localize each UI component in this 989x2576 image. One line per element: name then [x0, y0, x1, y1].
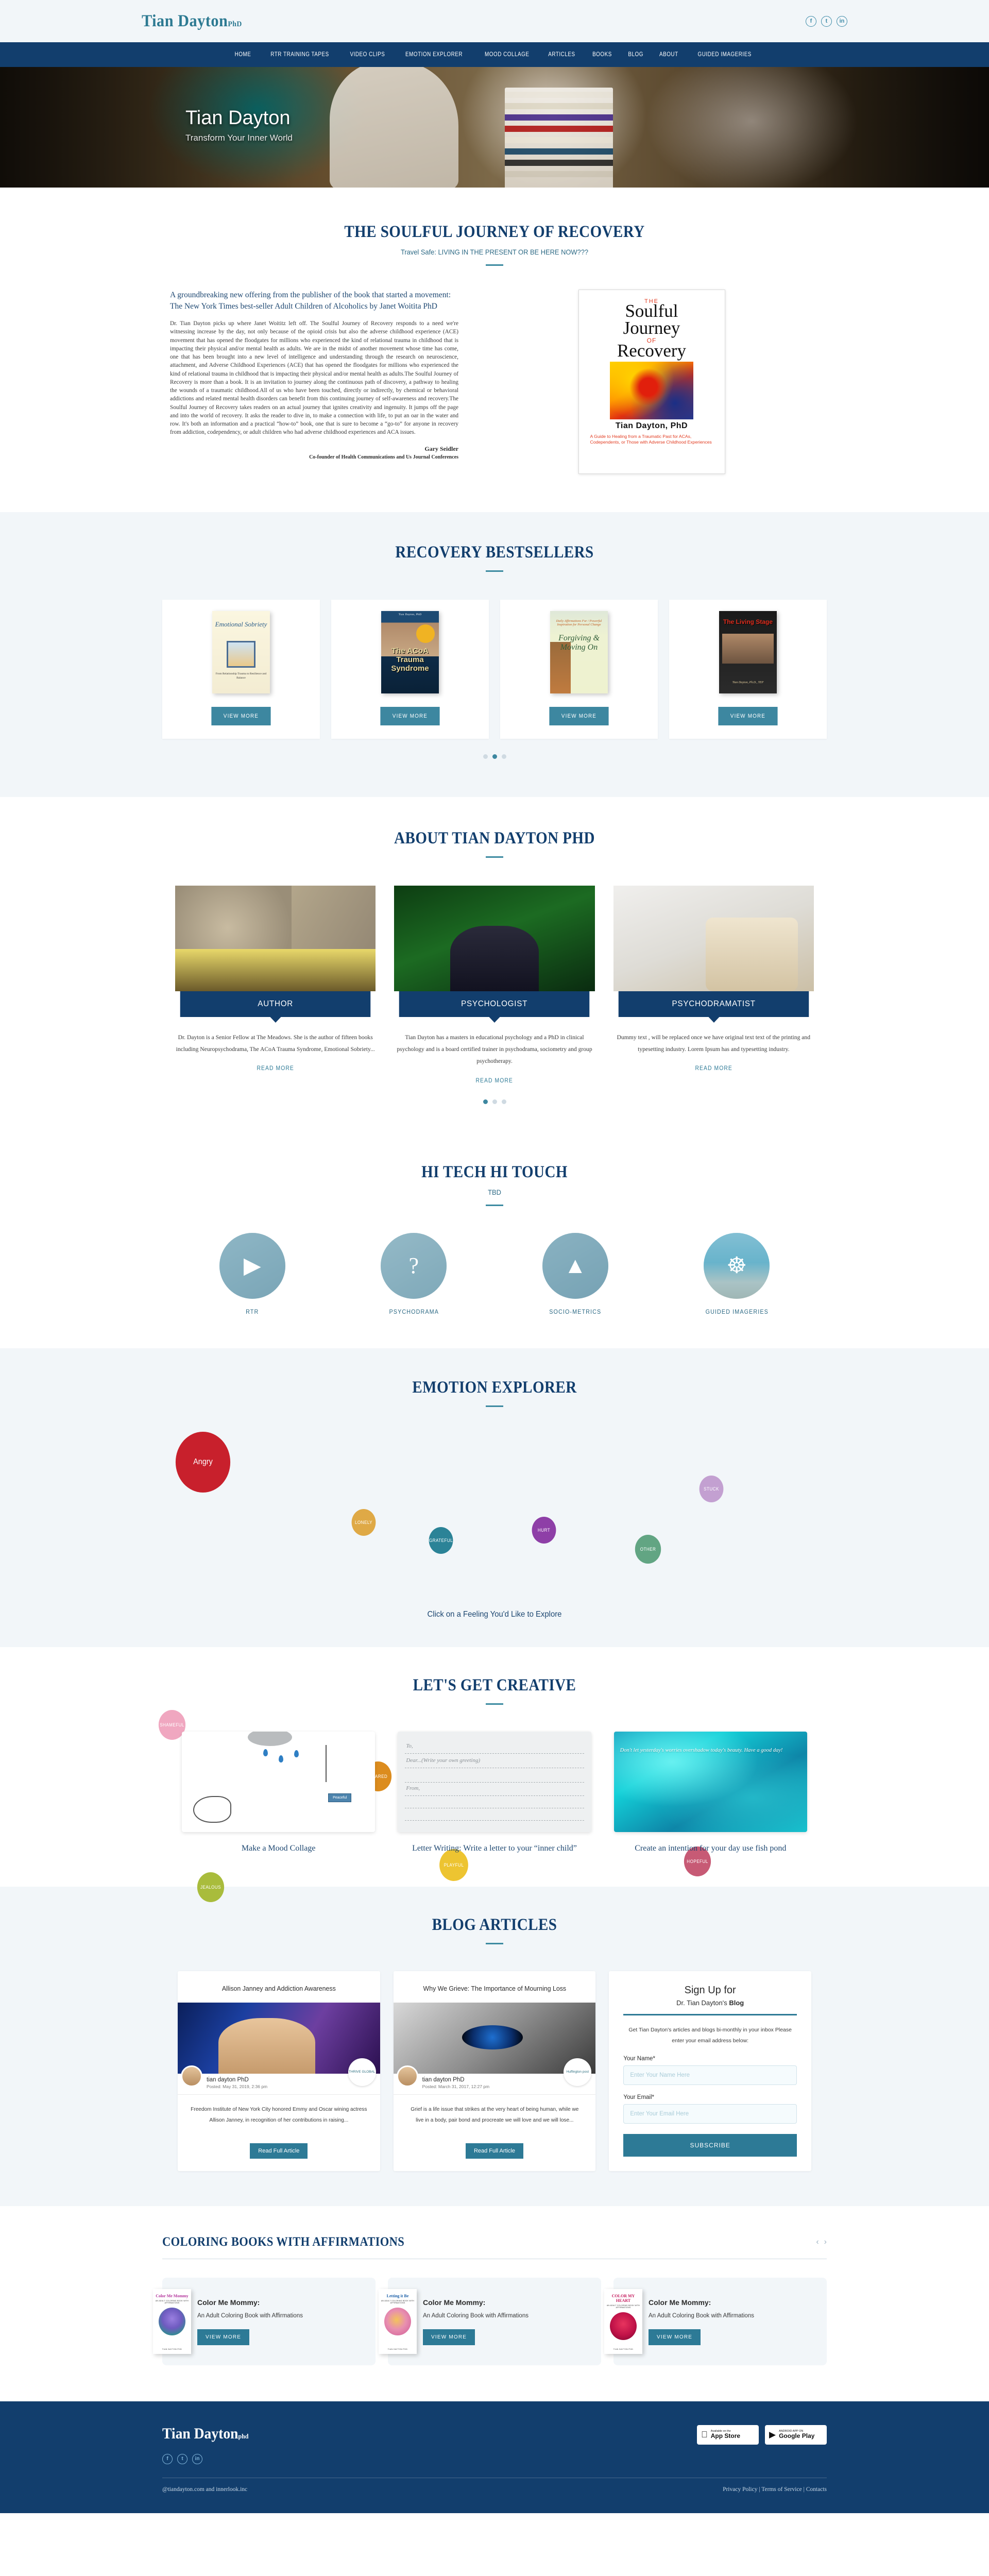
cover-author: Tian Dayton, PhD — [586, 421, 718, 431]
app-store-badges:  Available on the App Store ▶ ANDROID A… — [697, 2425, 827, 2445]
cover-title: Emotional Sobriety — [212, 620, 270, 629]
carousel-dot[interactable] — [502, 1099, 506, 1104]
carousel-dot-active[interactable] — [492, 754, 497, 759]
section-rule — [486, 856, 503, 858]
hitech-subtitle: TBD — [170, 1188, 819, 1196]
emotion-bubble-field: AngryLONELYGRATEFULHURTOTHERSTUCKSHAMEFU… — [142, 1432, 847, 1602]
recovery-bestsellers-section: RECOVERY BESTSELLERS Emotional Sobriety … — [0, 512, 989, 797]
twitter-icon[interactable]: t — [177, 2454, 187, 2464]
soulful-body: Dr. Tian Dayton picks up where Janet Woi… — [170, 319, 458, 437]
creative-caption-letter-writing: Letter Writing: Write a letter to your “… — [398, 1842, 591, 1855]
bestsellers-carousel-dots — [142, 754, 847, 759]
cover-author: Tian Dayton, Ph.D., TEP — [719, 681, 777, 684]
blog-headline: Why We Grieve: The Importance of Mournin… — [398, 1971, 590, 2003]
main-navigation: HOME RTR TRAINING TAPES VIDEO CLIPS EMOT… — [0, 42, 989, 67]
logo-text: Tian Dayton — [142, 12, 228, 30]
coloring-book-card[interactable]: Letting it Be AN ADULT COLORING BOOK WIT… — [388, 2278, 601, 2365]
coloring-books-section: COLORING BOOKS WITH AFFIRMATIONS ‹ › Col… — [0, 2206, 989, 2401]
linkedin-icon[interactable]: in — [192, 2454, 202, 2464]
book-cover-letting-it-be: Letting it Be AN ADULT COLORING BOOK WIT… — [379, 2289, 417, 2354]
read-full-article-button[interactable]: Read Full Article — [466, 2143, 523, 2159]
coloring-book-card[interactable]: COLOR MY HEART AN ADULT COLORING BOOK WI… — [613, 2278, 827, 2365]
hi-tech-hi-touch-section: HI TECH HI TOUCH TBD ▶ RTR ? PSYCHODRAMA — [0, 1134, 989, 1348]
about-image-psychologist — [394, 886, 594, 991]
about-image-author — [175, 886, 376, 991]
cover-subtitle: AN ADULT COLORING BOOK WITH AFFIRMATIONS — [379, 2300, 417, 2304]
blog-card[interactable]: Why We Grieve: The Importance of Mournin… — [394, 1971, 596, 2171]
cover-title: The Living Stage — [719, 618, 777, 625]
view-more-button[interactable]: VIEW MORE — [718, 707, 777, 725]
credit-role: Co-founder of Health Communications and … — [170, 454, 458, 460]
about-label-psychodramatist: PSYCHODRAMATIST — [618, 991, 809, 1017]
blog-author: tian dayton PhD — [207, 2077, 373, 2083]
subscribe-button[interactable]: SUBSCRIBE — [623, 2134, 797, 2157]
nav-item-home[interactable]: HOME — [229, 52, 257, 58]
hitech-item-guided-imageries[interactable]: ☸ GUIDED IMAGERIES — [665, 1233, 809, 1315]
hitech-label-psychodrama: PSYCHODRAMA — [349, 1308, 479, 1315]
hitech-item-socio-metrics[interactable]: ▲ SOCIO-METRICS — [503, 1233, 647, 1315]
view-more-button[interactable]: VIEW MORE — [211, 707, 270, 725]
emotion-bubble-angry[interactable]: Angry — [176, 1432, 230, 1493]
book-cover-soulful-journey[interactable]: THE Soulful Journey OF Recovery Tian Day… — [578, 290, 725, 474]
avatar — [397, 2065, 418, 2087]
coloring-book-desc: An Adult Coloring Book with Affirmations — [423, 2311, 590, 2322]
site-logo[interactable]: Tian DaytonPhD — [142, 12, 242, 31]
blog-date: Posted: March 31, 2017, 12:27 pm — [422, 2084, 589, 2089]
coloring-book-name: Color Me Mommy: — [197, 2297, 364, 2308]
blog-meta: Huffington post tian dayton PhD Posted: … — [394, 2074, 596, 2095]
signup-subtitle-bold: Blog — [729, 1999, 744, 2007]
cover-window-art — [227, 641, 255, 668]
carousel-dot[interactable] — [483, 754, 488, 759]
app-store-badge[interactable]:  Available on the App Store — [697, 2425, 759, 2445]
signup-copy: Get Tian Dayton's articles and blogs bi-… — [623, 2025, 797, 2046]
footer-copyright: @tiandayton.com and innerlook.inc — [162, 2486, 247, 2493]
emotion-hint: Click on a Feeling You'd Like to Explore — [166, 1610, 823, 1619]
footer-logo-suffix: phd — [238, 2432, 249, 2440]
creative-caption-intention: Create an intention for your day use fis… — [614, 1842, 807, 1855]
nav-item-mood-collage[interactable]: MOOD COLLAGE — [479, 52, 535, 58]
coloring-book-desc: An Adult Coloring Book with Affirmations — [197, 2311, 364, 2322]
bestseller-card[interactable]: Tian Dayton, PhD The ACoA Trauma Syndrom… — [331, 600, 489, 739]
cover-line-2: Journey — [586, 319, 718, 336]
cover-author: TIAN DAYTON PHD — [153, 2348, 191, 2350]
about-image-psychodramatist — [613, 886, 814, 991]
soulful-title: THE SOULFUL JOURNEY OF RECOVERY — [184, 223, 805, 242]
hero-text-block: Tian Dayton Transform Your Inner World — [185, 107, 293, 143]
hero-subtitle: Transform Your Inner World — [185, 133, 293, 143]
intention-water-card: Don't let yesterday's worries overshadow… — [614, 1732, 807, 1832]
raindrop-icon — [279, 1755, 283, 1762]
chevron-right-icon[interactable]: › — [824, 2238, 827, 2247]
cover-artwork — [610, 362, 693, 419]
linkedin-icon[interactable]: in — [837, 16, 847, 27]
cover-author: TIAN DAYTON PHD — [379, 2348, 417, 2350]
read-full-article-button[interactable]: Read Full Article — [250, 2143, 308, 2159]
blog-meta: THRIVE GLOBAL tian dayton PhD Posted: Ma… — [178, 2074, 380, 2095]
soulful-credit: Gary Seidler Co-founder of Health Commun… — [170, 445, 458, 460]
blog-thumbnail — [394, 2003, 596, 2074]
letter-to-label: To, — [406, 1743, 413, 1749]
nav-item-about[interactable]: ABOUT — [654, 52, 684, 58]
cover-title: COLOR MY HEART — [604, 2294, 642, 2303]
hitech-circle: ? — [381, 1233, 447, 1299]
cover-badge — [416, 624, 435, 643]
nav-item-rtr-training-tapes[interactable]: RTR TRAINING TAPES — [265, 52, 335, 58]
blog-excerpt: Freedom Institute of New York City honor… — [182, 2095, 376, 2136]
book-cover-acoa-trauma-syndrome: Tian Dayton, PhD The ACoA Trauma Syndrom… — [381, 611, 439, 693]
view-more-button[interactable]: VIEW MORE — [549, 707, 608, 725]
bestseller-card[interactable]: Daily Affirmations For / Powerful Inspir… — [500, 600, 658, 739]
letter-greeting-label: Dear...(Write your own greeting) — [406, 1757, 480, 1764]
nav-item-video-clips[interactable]: VIDEO CLIPS — [344, 52, 390, 58]
lets-get-creative-section: LET'S GET CREATIVE Peaceful Make a Mood … — [0, 1647, 989, 1887]
hero-book-stack — [505, 88, 613, 188]
credit-name: Gary Seidler — [170, 445, 458, 453]
hitech-circle: ▲ — [542, 1233, 608, 1299]
blog-headline: Allison Janney and Addiction Awareness — [183, 1971, 375, 2003]
hero-banner: Tian Dayton Transform Your Inner World — [0, 67, 989, 188]
cover-line-1: Soulful — [586, 302, 718, 319]
hero-portrait-figure — [330, 67, 458, 188]
emotion-bubble-stuck[interactable]: STUCK — [700, 1476, 724, 1502]
section-rule — [486, 1703, 503, 1705]
signup-subtitle: Dr. Tian Dayton's Blog — [623, 1999, 797, 2007]
view-more-button[interactable]: VIEW MORE — [423, 2329, 475, 2345]
meditation-icon: ☸ — [727, 1255, 747, 1277]
footer-logo[interactable]: Tian Daytonphd — [162, 2425, 248, 2443]
rain-cloud-icon — [248, 1732, 292, 1746]
cover-line-3: Recovery — [586, 342, 718, 359]
facebook-icon[interactable]: f — [162, 2454, 173, 2464]
coloring-rule — [162, 2259, 827, 2259]
footer-social-links: f t in — [162, 2454, 256, 2464]
coloring-book-desc: An Adult Coloring Book with Affirmations — [649, 2311, 815, 2322]
cover-subtitle: From Relationship Trauma to Resilience a… — [212, 672, 270, 681]
emotion-bubble-jealous[interactable]: JEALOUS — [197, 1872, 224, 1902]
book-cover-emotional-sobriety: Emotional Sobriety From Relationship Tra… — [212, 611, 270, 693]
chevron-left-icon[interactable]: ‹ — [816, 2238, 819, 2247]
bestsellers-title: RECOVERY BESTSELLERS — [184, 543, 805, 562]
coloring-book-name: Color Me Mommy: — [649, 2297, 815, 2308]
play-video-icon: ▶ — [244, 1255, 261, 1277]
cover-subtitle: AN ADULT COLORING BOOK WITH AFFIRMATIONS — [604, 2304, 642, 2309]
hitech-label-socio-metrics: SOCIO-METRICS — [510, 1308, 640, 1315]
emotion-bubble-hurt[interactable]: HURT — [532, 1517, 556, 1544]
coloring-title: COLORING BOOKS WITH AFFIRMATIONS — [162, 2235, 404, 2249]
creative-item-letter-writing[interactable]: To, Dear...(Write your own greeting) Fro… — [398, 1732, 591, 1855]
app-store-big-text: App Store — [711, 2433, 740, 2439]
creative-caption-mood-collage: Make a Mood Collage — [182, 1842, 375, 1855]
hitech-item-psychodrama[interactable]: ? PSYCHODRAMA — [342, 1233, 486, 1315]
soulful-journey-section: THE SOULFUL JOURNEY OF RECOVERY Travel S… — [0, 188, 989, 512]
coloring-book-card[interactable]: Color Me Mommy AN ADULT COLORING BOOK WI… — [162, 2278, 376, 2365]
source-logo-thrive-global: THRIVE GLOBAL — [348, 2058, 376, 2086]
section-rule — [486, 264, 503, 266]
mood-collage-canvas: Peaceful — [182, 1732, 375, 1832]
cover-author: Tian Dayton, PhD — [381, 613, 439, 616]
footer-logo-text: Tian Dayton — [162, 2425, 238, 2442]
emotion-explorer-section: EMOTION EXPLORER AngryLONELYGRATEFULHURT… — [0, 1348, 989, 1647]
hitech-circle: ☸ — [704, 1233, 770, 1299]
newsletter-signup-card: Sign Up for Dr. Tian Dayton's Blog Get T… — [609, 1971, 811, 2171]
carousel-dot-active[interactable] — [483, 1099, 488, 1104]
read-more-link-psychologist[interactable]: READ MORE — [404, 1078, 585, 1084]
about-card-author: AUTHOR Dr. Dayton is a Senior Fellow at … — [175, 886, 376, 1084]
raindrop-icon — [294, 1750, 299, 1757]
about-desc-psychologist: Tian Dayton has a masters in educational… — [394, 1031, 594, 1067]
nav-item-emotion-explorer[interactable]: EMOTION EXPLORER — [400, 52, 468, 58]
cover-subtitle: AN ADULT COLORING BOOK WITH AFFIRMATIONS — [153, 2300, 191, 2304]
about-carousel-dots — [142, 1099, 847, 1104]
read-more-link-psychodramatist[interactable]: READ MORE — [623, 1065, 804, 1072]
emotion-title: EMOTION EXPLORER — [184, 1378, 805, 1397]
hitech-title: HI TECH HI TOUCH — [184, 1163, 805, 1182]
view-more-button[interactable]: VIEW MORE — [649, 2329, 701, 2345]
section-rule — [486, 1943, 503, 1944]
coloring-book-name: Color Me Mommy: — [423, 2297, 590, 2308]
blog-date: Posted: May 31, 2019, 2:36 pm — [207, 2084, 373, 2089]
cover-photo-art — [722, 634, 774, 664]
nav-item-blog[interactable]: BLOG — [622, 52, 649, 58]
hitech-item-rtr[interactable]: ▶ RTR — [180, 1233, 325, 1315]
soulful-cover-column: THE Soulful Journey OF Recovery Tian Day… — [484, 290, 819, 474]
read-more-link-author[interactable]: READ MORE — [185, 1065, 365, 1072]
cover-title: Color Me Mommy — [153, 2294, 191, 2298]
hitech-label-guided-imageries: GUIDED IMAGERIES — [672, 1308, 802, 1315]
mountain-chart-icon: ▲ — [564, 1255, 587, 1277]
nav-item-books[interactable]: BOOKS — [587, 52, 618, 58]
google-play-big-text: Google Play — [779, 2433, 814, 2439]
creative-title: LET'S GET CREATIVE — [184, 1676, 805, 1695]
book-cover-color-me-mommy: Color Me Mommy AN ADULT COLORING BOOK WI… — [153, 2289, 191, 2354]
soulful-subtitle: Travel Safe: LIVING IN THE PRESENT OR BE… — [170, 248, 819, 256]
creative-item-mood-collage[interactable]: Peaceful Make a Mood Collage — [182, 1732, 375, 1855]
about-label-author: AUTHOR — [180, 991, 371, 1017]
letter-writing-sheet: To, Dear...(Write your own greeting) Fro… — [398, 1732, 591, 1832]
blog-card[interactable]: Allison Janney and Addiction Awareness T… — [178, 1971, 380, 2171]
emotion-bubble-other[interactable]: OTHER — [635, 1535, 661, 1564]
email-field-label: Your Email* — [623, 2094, 797, 2100]
question-head-icon: ? — [408, 1255, 419, 1277]
cover-artwork — [384, 2308, 411, 2335]
book-cover-forgiving-and-moving-on: Daily Affirmations For / Powerful Inspir… — [550, 611, 608, 693]
about-card-psychodramatist: PSYCHODRAMATIST Dummy text , will be rep… — [613, 886, 814, 1084]
cover-tagline: A Guide to Healing from a Traumatic Past… — [586, 434, 718, 446]
section-rule — [486, 1405, 503, 1407]
carousel-dot[interactable] — [492, 1099, 497, 1104]
nav-item-guided-imageries[interactable]: GUIDED IMAGERIES — [692, 52, 757, 58]
book-cover-color-my-heart: COLOR MY HEART AN ADULT COLORING BOOK WI… — [604, 2289, 642, 2354]
avatar — [181, 2065, 202, 2087]
play-triangle-icon: ▶ — [769, 2430, 776, 2440]
blog-articles-section: BLOG ARTICLES Allison Janney and Addicti… — [0, 1887, 989, 2206]
signup-subtitle-pre: Dr. Tian Dayton's — [676, 1999, 729, 2007]
letter-from-label: From, — [406, 1785, 420, 1791]
bird-drawing-icon — [193, 1796, 231, 1823]
section-rule — [486, 570, 503, 572]
name-input[interactable] — [623, 2065, 797, 2085]
about-title: ABOUT TIAN DAYTON PHD — [184, 829, 805, 848]
palm-tree-icon — [326, 1745, 357, 1782]
nav-item-articles[interactable]: ARTICLES — [542, 52, 581, 58]
email-input[interactable] — [623, 2104, 797, 2124]
hero-title: Tian Dayton — [185, 107, 293, 129]
raindrop-icon — [263, 1749, 268, 1756]
soulful-text-column: A groundbreaking new offering from the p… — [170, 290, 458, 474]
view-more-button[interactable]: VIEW MORE — [197, 2329, 249, 2345]
cover-title: The ACoA Trauma Syndrome — [381, 647, 439, 673]
blog-author: tian dayton PhD — [422, 2077, 589, 2083]
emotion-bubble-grateful[interactable]: GRATEFUL — [429, 1527, 453, 1554]
cover-author: TIAN DAYTON PHD — [604, 2348, 642, 2350]
hitech-circle: ▶ — [219, 1233, 285, 1299]
cover-title: Forgiving & Moving On — [550, 634, 608, 652]
coloring-carousel-arrows: ‹ › — [816, 2238, 827, 2247]
blog-title: BLOG ARTICLES — [184, 1916, 805, 1935]
about-label-psychologist: PSYCHOLOGIST — [399, 991, 590, 1017]
carousel-dot[interactable] — [502, 754, 506, 759]
cover-artwork — [159, 2308, 185, 2335]
name-field-label: Your Name* — [623, 2056, 797, 2062]
twitter-icon[interactable]: t — [821, 16, 832, 27]
site-header: Tian DaytonPhD f t in — [0, 0, 989, 42]
hitech-label-rtr: RTR — [187, 1308, 317, 1315]
blog-thumbnail — [178, 2003, 380, 2074]
intention-quote: Don't let yesterday's worries overshadow… — [620, 1746, 801, 1755]
creative-item-intention[interactable]: Don't let yesterday's worries overshadow… — [614, 1732, 807, 1855]
footer-legal-links[interactable]: Privacy Policy | Terms of Service | Cont… — [723, 2486, 827, 2493]
book-cover-the-living-stage: The Living Stage Tian Dayton, Ph.D., TEP — [719, 611, 777, 693]
site-footer: Tian Daytonphd f t in  Available on the… — [0, 2401, 989, 2513]
about-desc-psychodramatist: Dummy text , will be replaced once we ha… — [613, 1031, 814, 1055]
about-card-psychologist: PSYCHOLOGIST Tian Dayton has a masters i… — [394, 886, 594, 1084]
about-section: ABOUT TIAN DAYTON PHD AUTHOR Dr. Dayton … — [0, 797, 989, 1134]
section-rule — [486, 1205, 503, 1206]
logo-suffix: PhD — [228, 20, 242, 28]
signup-rule — [623, 2014, 797, 2015]
cover-artwork — [610, 2312, 637, 2340]
mood-chip-peaceful[interactable]: Peaceful — [328, 1793, 351, 1802]
cover-subtitle: Daily Affirmations For / Powerful Inspir… — [550, 619, 608, 626]
bestseller-card[interactable]: Emotional Sobriety From Relationship Tra… — [162, 600, 320, 739]
google-play-badge[interactable]: ▶ ANDROID APP ON Google Play — [765, 2425, 827, 2445]
facebook-icon[interactable]: f — [806, 16, 816, 27]
signup-title: Sign Up for — [623, 1985, 797, 1996]
view-more-button[interactable]: VIEW MORE — [380, 707, 439, 725]
header-social-links: f t in — [806, 16, 847, 27]
blog-excerpt: Grief is a life issue that strikes at th… — [398, 2095, 592, 2136]
cover-title: Letting it Be — [379, 2294, 417, 2298]
about-desc-author: Dr. Dayton is a Senior Fellow at The Mea… — [175, 1031, 376, 1055]
emotion-bubble-lonely[interactable]: LONELY — [352, 1509, 376, 1536]
apple-icon:  — [701, 2430, 708, 2440]
bestseller-card[interactable]: The Living Stage Tian Dayton, Ph.D., TEP… — [669, 600, 827, 739]
soulful-lead: A groundbreaking new offering from the p… — [170, 290, 458, 312]
